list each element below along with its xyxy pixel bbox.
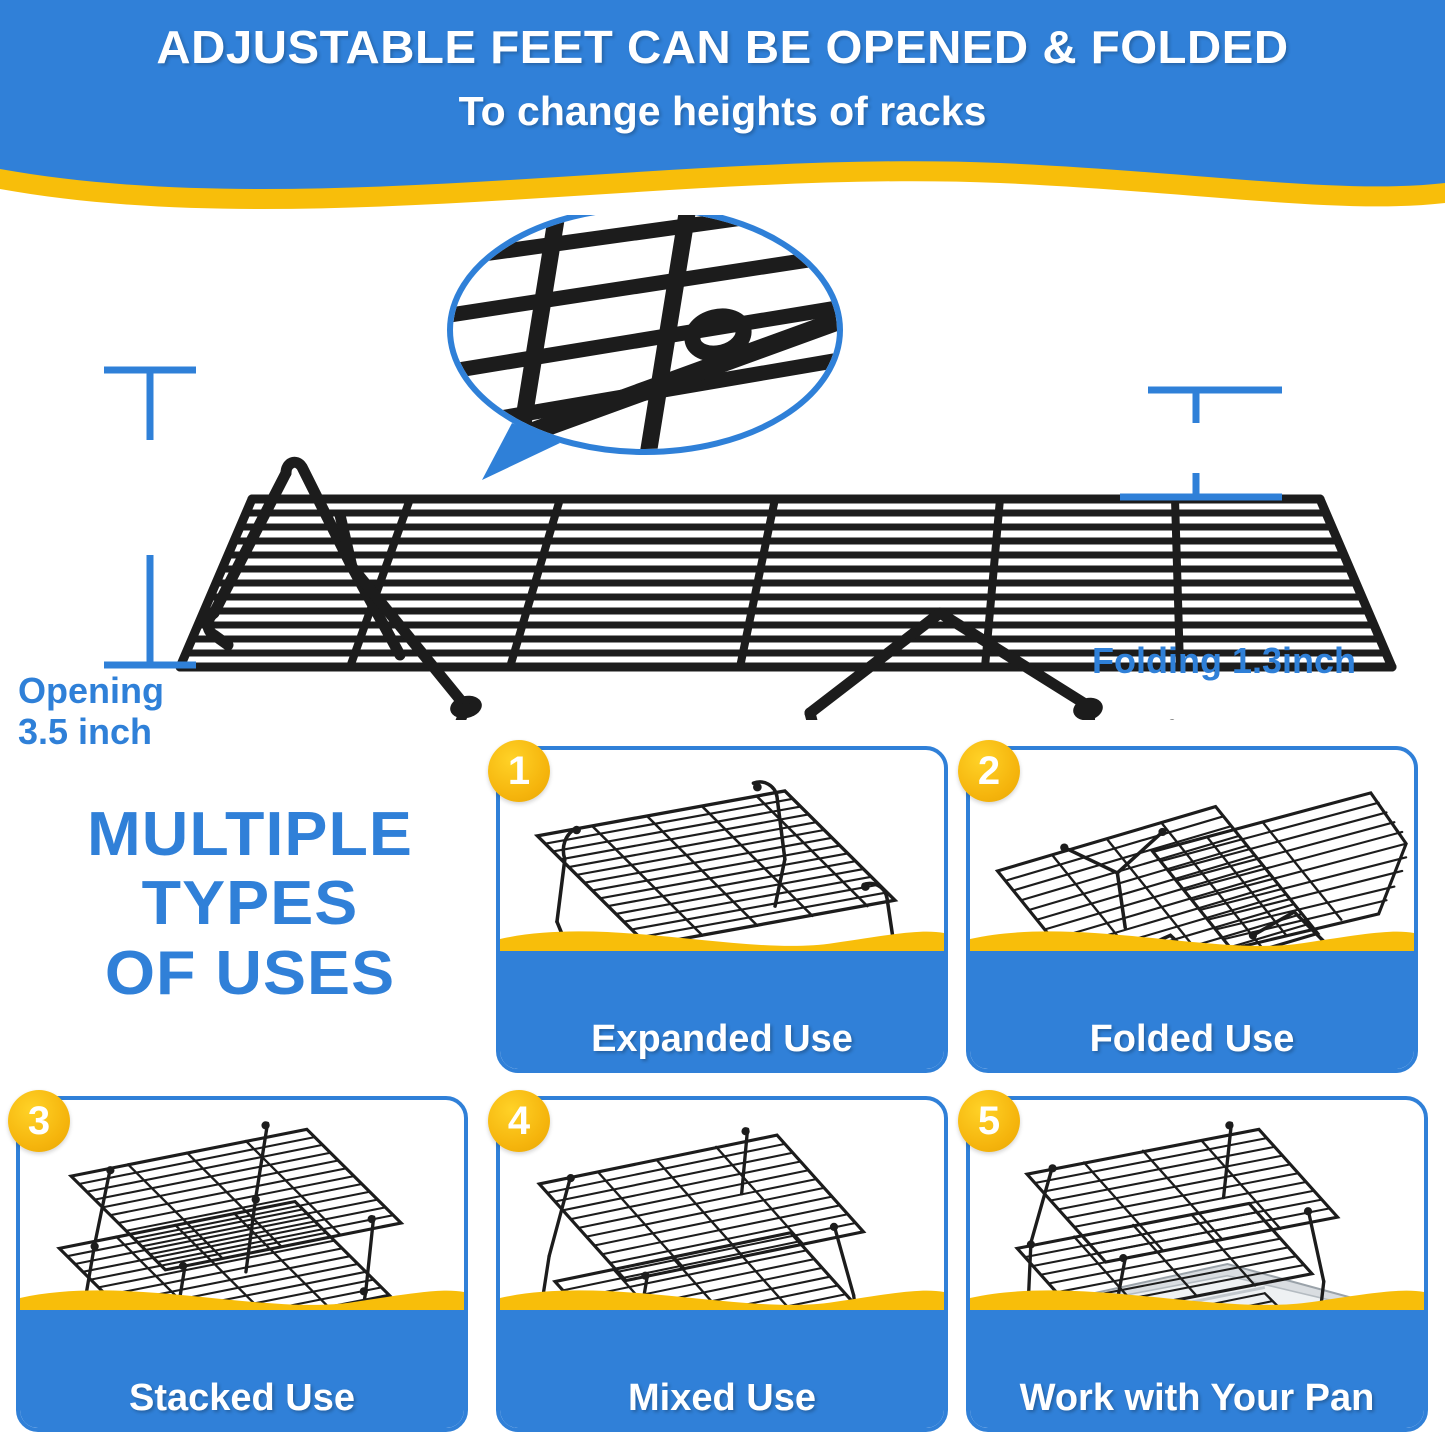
multiple-types-line2: TYPES <box>21 869 479 938</box>
folding-dimension-label: Folding 1.3inch <box>1092 640 1356 681</box>
opening-dimension-label: Opening 3.5 inch <box>18 670 208 753</box>
header-title-line1: ADJUSTABLE FEET CAN BE OPENED & FOLDED <box>0 20 1445 74</box>
multiple-types-line1: MULTIPLE <box>21 800 479 869</box>
use-case-card-with-pan[interactable]: Work with Your Pan <box>966 1096 1428 1432</box>
use-case-card-expanded[interactable]: Expanded Use <box>496 746 948 1073</box>
header-wave-divider <box>0 139 1445 215</box>
card-caption-3: Stacked Use <box>20 1377 464 1420</box>
card-number-badge-2: 2 <box>958 740 1020 802</box>
header-subtitle-line2: To change heights of racks <box>0 88 1445 135</box>
hero-product-illustration: Opening 3.5 inch Folding 1.3inch <box>0 215 1445 720</box>
card-caption-5: Work with Your Pan <box>970 1377 1424 1420</box>
multiple-types-line3: OF USES <box>21 939 479 1008</box>
hinge-joint-magnifier <box>430 215 880 480</box>
header-banner: ADJUSTABLE FEET CAN BE OPENED & FOLDED T… <box>0 0 1445 215</box>
card-caption-1: Expanded Use <box>500 1018 944 1061</box>
folding-dimension-line <box>1120 390 1282 497</box>
card-caption-2: Folded Use <box>970 1018 1414 1061</box>
card-number-badge-5: 5 <box>958 1090 1020 1152</box>
multiple-types-heading: MULTIPLE TYPES OF USES <box>30 800 470 1008</box>
use-case-card-mixed[interactable]: Mixed Use <box>496 1096 948 1432</box>
opening-dimension-line <box>104 370 196 665</box>
card-number-badge-1: 1 <box>488 740 550 802</box>
card-number-badge-3: 3 <box>8 1090 70 1152</box>
use-case-card-stacked[interactable]: Stacked Use <box>16 1096 468 1432</box>
card-caption-4: Mixed Use <box>500 1377 944 1420</box>
card-number-badge-4: 4 <box>488 1090 550 1152</box>
use-case-card-folded[interactable]: Folded Use <box>966 746 1418 1073</box>
